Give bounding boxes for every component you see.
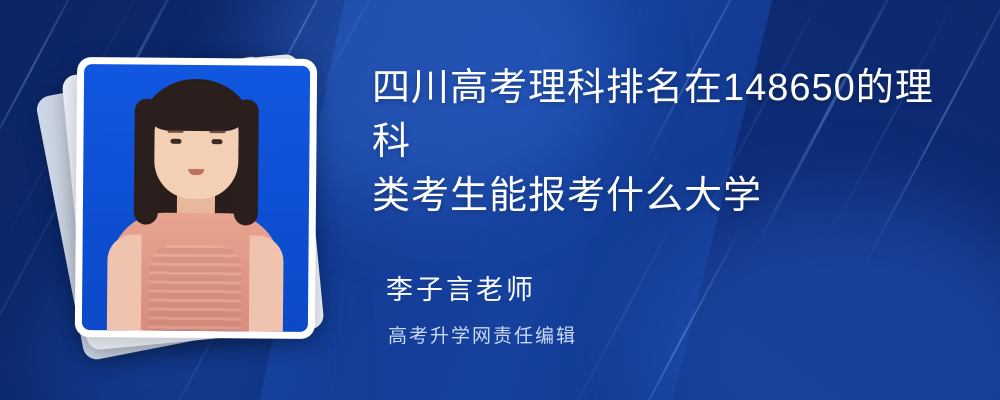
author-block: 李子言老师 高考升学网责任编辑 xyxy=(386,268,986,348)
portrait-eyebrow-left xyxy=(168,130,184,133)
headline-block: 四川高考理科排名在148650的理科 类考生能报考什么大学 xyxy=(372,62,972,224)
portrait-photo xyxy=(82,64,310,332)
portrait-eyebrow-right xyxy=(210,130,226,133)
photo-card-front xyxy=(75,57,317,339)
photo-card-stack xyxy=(48,40,348,360)
portrait-dress-texture xyxy=(149,245,242,332)
portrait-shoulder-right xyxy=(249,235,284,331)
article-header-banner: 四川高考理科排名在148650的理科 类考生能报考什么大学 李子言老师 高考升学… xyxy=(0,0,1000,400)
portrait-eye-right xyxy=(211,139,222,144)
headline-line-2: 类考生能报考什么大学 xyxy=(372,170,972,224)
portrait-fringe xyxy=(149,83,245,132)
author-role: 高考升学网责任编辑 xyxy=(386,321,986,348)
portrait-eye-left xyxy=(170,139,181,144)
author-name: 李子言老师 xyxy=(386,268,986,307)
portrait-shoulder-left xyxy=(107,234,142,330)
headline-line-1: 四川高考理科排名在148650的理科 xyxy=(372,62,972,170)
